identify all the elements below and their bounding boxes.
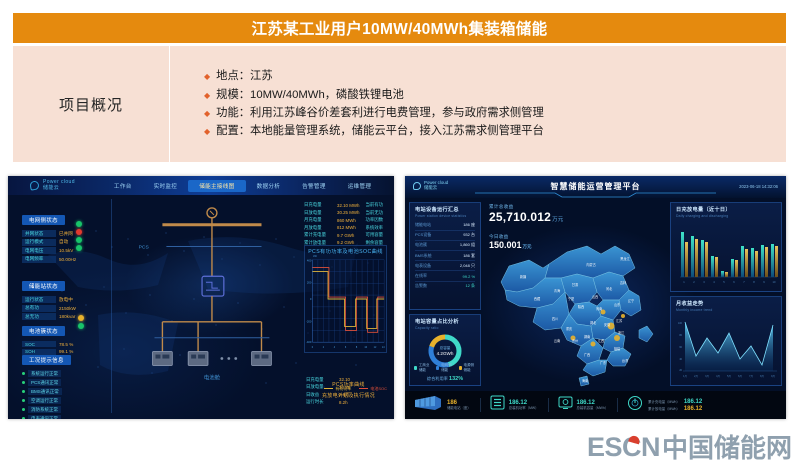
row-value: 1,860 组 <box>460 242 475 248</box>
list-item: 电表通讯正常 <box>22 415 71 419</box>
row-key: 运行模式 <box>22 239 56 246</box>
left-dashboard-navbar: Power cloud 储能云 工作台 实时监控 储能主接线图 数据分析 告警管… <box>8 176 394 195</box>
divider <box>617 398 618 412</box>
panel-title: 储能站状态 <box>22 281 65 291</box>
left-nav-tabs[interactable]: 工作台 实时监控 储能主接线图 数据分析 告警管理 运维管理 <box>103 180 382 192</box>
metric-key: 当前无功 <box>365 210 394 216</box>
table-row: 运行模式 自动 <box>22 239 76 246</box>
row-key: 总有功 <box>22 305 56 312</box>
power-soc-chart: PCS有功功率及电池SOC曲线 <box>304 245 387 353</box>
table-row: 运行状态 放电中 <box>22 296 76 303</box>
svg-text:2月: 2月 <box>694 374 698 378</box>
svg-text:贵州: 贵州 <box>572 338 578 343</box>
svg-text:9月: 9月 <box>771 374 775 378</box>
list-item: ◆ 功能：利用江苏峰谷价差套利进行电费管理，参与政府需求侧管理 <box>204 105 786 121</box>
svg-text:6: 6 <box>345 346 347 349</box>
metric-key: 月放电量 <box>304 225 334 231</box>
card-title: 电站设备运行汇总 <box>415 206 475 213</box>
svg-text:宁夏: 宁夏 <box>568 296 575 301</box>
svg-text:100: 100 <box>678 322 683 325</box>
table-row: 总无功 180kvar <box>22 313 76 320</box>
svg-text:云南: 云南 <box>554 338 560 343</box>
svg-text:河北: 河北 <box>606 286 613 291</box>
svg-text:吉林: 吉林 <box>620 280 627 285</box>
panel-rows: 运行状态 放电中 总有功 2150kW 总无功 180kvar <box>22 296 76 320</box>
row-key: 在线率 <box>415 273 427 279</box>
installed-capacity-stat: 186.12 总装机容量（MWh） <box>577 400 609 411</box>
table-row: 电网电压 10.5kV <box>22 247 76 254</box>
list-item: BMS通讯正常 <box>22 388 71 395</box>
tab-alarm-management[interactable]: 告警管理 <box>291 180 337 192</box>
dot-icon <box>22 381 25 384</box>
alarm-item-list: 系统运行正常 PCS通讯正常 BMS通讯正常 空调运行正常 消防系统正常 电表通… <box>22 370 71 419</box>
divider <box>548 398 549 412</box>
svg-text:电池舱: 电池舱 <box>204 373 221 381</box>
note-line: 充放电计划及执行情况 <box>322 392 375 399</box>
bottom-status-bar: 186 储能电站（座） 186.12 总装机功率（MW） <box>405 391 786 419</box>
project-overview-table: 项目概况 ◆ 地点：江苏 ◆ 规模：10MW/40MWh，磷酸铁锂电池 ◆ 功能… <box>13 46 786 162</box>
table-row: 月充电量860 MWh <box>304 217 359 223</box>
alarm-text: PCS通讯正常 <box>28 379 61 386</box>
left-metrics-column: 日充电量32.10 MWh 日放电量30.25 MWh 月充电量860 MWh … <box>302 199 389 413</box>
overview-label-cell: 项目概况 <box>13 46 170 162</box>
bar-chart-plot: 123 456 789 10 <box>675 219 779 289</box>
led-red-icon <box>76 229 82 235</box>
svg-text:12: 12 <box>374 346 377 349</box>
svg-text:-200: -200 <box>306 319 312 323</box>
diamond-bullet-icon: ◆ <box>204 68 210 81</box>
svg-text:山西: 山西 <box>592 294 598 299</box>
table-row: 并网状态 已并网 <box>22 230 76 237</box>
led-green-icon <box>76 245 82 251</box>
legend-label: 工商业储能 <box>419 363 431 373</box>
svg-text:-400: -400 <box>306 340 312 344</box>
svg-text:总容量: 总容量 <box>440 345 451 350</box>
legend-label: 电网侧储能 <box>441 363 453 373</box>
svg-text:江苏: 江苏 <box>616 318 623 323</box>
metric-key: 系统效率 <box>365 225 394 231</box>
legend-item: 工商业储能 <box>414 363 431 373</box>
slide-title-bar: 江苏某工业用户10MW/40MWh集装箱储能 <box>13 13 786 43</box>
card-subtitle: Daily charging and discharging <box>676 214 776 218</box>
list-item: 空调运行正常 <box>22 397 71 404</box>
container-icon <box>413 394 443 416</box>
card-title: 日充放电量（近十日） <box>676 206 776 213</box>
svg-text:湖南: 湖南 <box>584 334 590 339</box>
metric-value: 860 MWh <box>337 218 356 223</box>
svg-text:10: 10 <box>364 346 367 349</box>
svg-text:黑龙江: 黑龙江 <box>620 256 630 261</box>
svg-text:海南: 海南 <box>582 378 588 383</box>
installed-power-stat: 186.12 总装机功率（MW） <box>509 400 539 411</box>
table-row: 当前无功180 kvar <box>365 210 394 216</box>
svg-text:四川: 四川 <box>552 317 558 321</box>
row-key: 储能电站 <box>415 222 431 228</box>
monitor-icon <box>558 395 573 415</box>
chart-plot: 400200 0-200-400 024 6810 1214 kW <box>305 246 386 352</box>
svg-text:广西: 广西 <box>584 352 590 357</box>
row-key: 累计充电量（MWh） <box>648 399 680 404</box>
legend-swatch <box>436 366 439 370</box>
list-item: ◆ 规模：10MW/40MWh，磷酸铁锂电池 <box>204 87 786 103</box>
diamond-bullet-icon: ◆ <box>204 105 210 118</box>
svg-text:4.2GWh: 4.2GWh <box>437 351 454 356</box>
metric-group: 当前有功2150 kW 当前无功180 kvar 功率因数0.99 系统效率92… <box>365 202 394 246</box>
svg-text:青海: 青海 <box>554 288 561 293</box>
table-row: 告警数12 条 <box>415 282 475 291</box>
table-row: 当前有功2150 kW <box>365 202 394 208</box>
svg-text:陕西: 陕西 <box>578 304 584 309</box>
right-dashboard-body: 电站设备运行汇总 Power station device statistics… <box>405 198 786 391</box>
diamond-bullet-icon: ◆ <box>204 123 210 136</box>
left-status-column: 电网侧状态 并网状态 已并网 运行模式 自动 电网电压 10.5kV <box>14 199 112 413</box>
svg-text:0: 0 <box>310 297 312 301</box>
svg-text:6月: 6月 <box>738 374 742 378</box>
legend-item: 电源侧储能 <box>459 363 476 373</box>
svg-text:台湾: 台湾 <box>622 358 629 363</box>
panel-rows: 并网状态 已并网 运行模式 自动 电网电压 10.5kV 电网频率 50.00H… <box>22 230 76 263</box>
card-header: 月收益走势 Monthly income trend <box>671 297 781 313</box>
svg-text:河南: 河南 <box>596 306 602 311</box>
row-value: 180kvar <box>59 314 75 319</box>
row-value: 932 台 <box>463 232 475 238</box>
table-row: 功率因数0.99 <box>365 217 394 223</box>
svg-text:4: 4 <box>713 280 715 284</box>
row-value: 50.00Hz <box>59 257 76 262</box>
svg-text:4: 4 <box>334 346 336 349</box>
watermark-en: ESCN <box>587 434 660 461</box>
right-dashboard-screenshot: Power cloud 储能云 智慧储能运营管理平台 2023-06-18 14… <box>405 176 786 419</box>
row-value: 186 套 <box>463 253 475 259</box>
led-green-icon <box>76 237 82 243</box>
row-key: 总无功 <box>22 313 56 320</box>
svg-text:200: 200 <box>307 280 312 284</box>
svg-text:7: 7 <box>743 280 745 284</box>
svg-text:10: 10 <box>773 280 776 284</box>
dot-icon <box>22 390 25 393</box>
row-key: SOC <box>22 341 56 347</box>
svg-text:1月: 1月 <box>683 374 687 378</box>
table-row: BMS系统186 套 <box>415 251 475 261</box>
panel-title: 电网侧状态 <box>22 215 65 225</box>
svg-text:6: 6 <box>733 280 735 284</box>
card-header: 电站容量占比分析 Capacity ratio <box>410 315 480 331</box>
metric-group: 日充电量32.10 MWh 日放电量30.25 MWh 月充电量860 MWh … <box>304 202 359 246</box>
metric-key: 可用容量 <box>365 232 394 238</box>
utilization-value: 132% <box>449 376 463 382</box>
device-summary-card: 电站设备运行汇总 Power station device statistics… <box>409 202 481 310</box>
list-item: ◆ 配置：本地能量管理系统，储能云平台，接入江苏需求侧管理平台 <box>204 123 786 139</box>
svg-text:60: 60 <box>679 346 682 349</box>
tab-single-line-diagram[interactable]: 储能主接线图 <box>188 180 245 192</box>
table-row: 电网频率 50.00Hz <box>22 256 76 263</box>
svg-text:8: 8 <box>753 280 755 284</box>
bullet-text: 地点：江苏 <box>216 68 273 84</box>
tab-ops-management[interactable]: 运维管理 <box>337 180 383 192</box>
svg-text:7月: 7月 <box>749 374 753 378</box>
row-key: 电表设备 <box>415 263 431 269</box>
table-row: 可用容量31.4 MWh <box>365 232 394 238</box>
table-row: 总有功 2150kW <box>22 305 76 312</box>
svg-text:8月: 8月 <box>760 374 764 378</box>
storage-status-leds <box>78 315 84 329</box>
row-value: 已并网 <box>59 231 73 237</box>
list-item: PCS通讯正常 <box>22 379 71 386</box>
row-key: 电池簇 <box>415 242 427 248</box>
svg-text:3月: 3月 <box>705 374 709 378</box>
overview-label: 项目概况 <box>59 94 123 115</box>
led-yellow-icon <box>78 315 84 321</box>
row-value: 186 座 <box>463 222 475 228</box>
legend-label: 电源侧储能 <box>464 363 476 373</box>
row-key: 运行状态 <box>22 296 56 303</box>
row-key: 电网电压 <box>22 247 56 254</box>
svg-text:西藏: 西藏 <box>534 296 541 301</box>
stat-label: 总装机功率（MW） <box>509 406 539 410</box>
slide-title: 江苏某工业用户10MW/40MWh集装箱储能 <box>252 17 548 39</box>
table-row: 在线率99.2 % <box>415 271 475 281</box>
page-title: 智慧储能运营管理平台 <box>405 181 786 192</box>
row-value: 186.12 <box>684 406 702 412</box>
card-subtitle: Capacity ratio <box>415 326 475 330</box>
card-header: 日充放电量（近十日） Daily charging and dischargin… <box>671 203 781 219</box>
legend-item: 电网侧储能 <box>436 363 453 373</box>
area-chart-plot: 1008060 4020 1月2月3月 4月5月6月 7月8月9月 <box>675 313 779 383</box>
row-value: 10.5kV <box>59 248 73 253</box>
row-value: 自动 <box>59 239 68 245</box>
alarm-text: 电表通讯正常 <box>28 415 61 419</box>
alarm-text: 消防系统正常 <box>28 406 61 413</box>
cloud-icon <box>29 180 39 190</box>
svg-text:5月: 5月 <box>727 374 731 378</box>
svg-text:40: 40 <box>679 358 682 361</box>
bullet-text: 配置：本地能量管理系统，储能云平台，接入江苏需求侧管理平台 <box>216 123 544 139</box>
table-row: 储能电站186 座 <box>415 221 475 231</box>
table-row: 累计充电量9.7 GWh <box>304 232 359 238</box>
row-value: 186.12 <box>684 399 702 405</box>
svg-text:2: 2 <box>323 346 325 349</box>
svg-text:湖北: 湖北 <box>590 320 597 325</box>
metric-key: 月充电量 <box>304 217 334 223</box>
svg-text:新疆: 新疆 <box>520 274 527 279</box>
row-key: 电网频率 <box>22 256 56 263</box>
card-subtitle: Monthly income trend <box>676 308 776 312</box>
logo-sub: 储能云 <box>43 186 75 192</box>
tab-realtime-monitor[interactable]: 实时监控 <box>143 180 189 192</box>
svg-text:kW: kW <box>313 255 317 258</box>
led-green-icon <box>78 323 84 329</box>
svg-text:甘肃: 甘肃 <box>572 282 579 287</box>
stat-label: 总装机容量（MWh） <box>577 406 609 410</box>
svg-text:山东: 山东 <box>614 302 620 307</box>
table-row: 系统效率92.6 % <box>365 225 394 231</box>
table-row: 电池簇1,860 组 <box>415 241 475 251</box>
svg-text:20: 20 <box>679 369 682 372</box>
row-value: 12 条 <box>465 283 475 289</box>
metric-value: 812 MWh <box>337 225 356 230</box>
metrics-grid: 日充电量32.10 MWh 日放电量30.25 MWh 月充电量860 MWh … <box>304 202 387 246</box>
clock-text: 2023-06-18 14:32:06 <box>739 184 778 189</box>
row-value: 2150kW <box>59 306 76 311</box>
svg-text:福建: 福建 <box>614 346 621 351</box>
watermark-cn: 中国储能网 <box>662 435 792 461</box>
alarm-text: 空调运行正常 <box>28 397 61 404</box>
dot-icon <box>22 399 25 402</box>
table-row: 日放电量30.25 MWh <box>304 210 359 216</box>
table-row: PCS设备932 台 <box>415 231 475 241</box>
donut-legend: 工商业储能 电网侧储能 电源侧储能 <box>414 363 476 373</box>
left-dashboard-body: 电网侧状态 并网状态 已并网 运行模式 自动 电网电压 10.5kV <box>8 195 394 419</box>
device-kv-list: 储能电站186 座 PCS设备932 台 电池簇1,860 组 BMS系统186… <box>410 219 480 293</box>
metric-key: 当前有功 <box>365 202 394 208</box>
alarm-text: BMS通讯正常 <box>28 388 62 395</box>
left-dashboard-screenshot: Power cloud 储能云 工作台 实时监控 储能主接线图 数据分析 告警管… <box>8 176 394 419</box>
svg-text:内蒙古: 内蒙古 <box>586 262 596 267</box>
card-subtitle: Power station device statistics <box>415 214 475 218</box>
table-row: 累计放电量（MWh） 186.12 <box>648 406 702 412</box>
cumulative-stats: 累计充电量（MWh） 186.12 累计放电量（MWh） 186.12 <box>648 399 702 412</box>
overview-bullet-list: ◆ 地点：江苏 ◆ 规模：10MW/40MWh，磷酸铁锂电池 ◆ 功能：利用江苏… <box>170 46 786 162</box>
metric-value: 32.10 MWh <box>337 203 359 208</box>
stat-label: 储能电站（座） <box>447 406 471 410</box>
legend-swatch <box>414 366 417 370</box>
card-title: 月收益走势 <box>676 300 776 307</box>
station-count-stat: 186 储能电站（座） <box>447 400 471 411</box>
svg-text:0: 0 <box>312 346 314 349</box>
dot-icon <box>22 372 25 375</box>
china-map: 新疆西藏青海 甘肃内蒙古黑龙江 吉林辽宁河北 山西陕西宁夏 四川重庆云南 贵州广… <box>483 216 669 388</box>
monthly-income-area-card: 月收益走势 Monthly income trend 1008060 4020 <box>670 296 782 386</box>
row-key: 告警数 <box>415 283 427 289</box>
dot-icon <box>22 417 25 419</box>
svg-text:5: 5 <box>723 280 725 284</box>
note-line: PCS功率曲线 <box>322 381 375 388</box>
row-value: 2,048 只 <box>460 263 475 269</box>
metric-key: 累计充电量 <box>304 232 334 238</box>
row-key: BMS系统 <box>415 253 432 259</box>
tab-data-analysis[interactable]: 数据分析 <box>246 180 292 192</box>
capacity-ratio-card: 电站容量占比分析 Capacity ratio 总容量 4.2GWh 工商业储能… <box>409 314 481 386</box>
svg-text:9: 9 <box>763 280 765 284</box>
alarm-text: 系统运行正常 <box>28 370 61 377</box>
alarm-hint-panel: 工况提示信息 系统运行正常 PCS通讯正常 BMS通讯正常 空调运行正常 消防系… <box>22 349 71 419</box>
dot-icon <box>22 408 25 411</box>
right-dashboard-header: Power cloud 储能云 智慧储能运营管理平台 2023-06-18 14… <box>405 176 786 198</box>
svg-text:80: 80 <box>679 334 682 337</box>
list-item: ◆ 地点：江苏 <box>204 68 786 84</box>
svg-text:广东: 广东 <box>600 360 606 365</box>
svg-text:8: 8 <box>356 346 358 349</box>
table-row: 日充电量32.10 MWh <box>304 202 359 208</box>
utilization-row: 综合利用率 132% <box>410 376 480 382</box>
svg-text:重庆: 重庆 <box>566 326 573 331</box>
svg-text:江西: 江西 <box>598 338 604 343</box>
svg-text:辽宁: 辽宁 <box>628 298 634 303</box>
metric-value: 30.25 MWh <box>337 210 359 215</box>
table-row: 累计充电量（MWh） 186.12 <box>648 399 702 405</box>
svg-text:浙江: 浙江 <box>618 330 625 335</box>
panel-subtitle: 电池簇状态 <box>22 326 65 336</box>
escn-c-letter: C <box>622 434 641 461</box>
left-dashboard-logo: Power cloud 储能云 <box>8 180 75 191</box>
panel-title: 工况提示信息 <box>22 355 71 365</box>
divider <box>480 398 481 412</box>
single-line-diagram-column: 电池舱 PCS <box>114 199 300 413</box>
row-value: 78.5 % <box>59 342 73 347</box>
list-icon <box>490 395 505 415</box>
grid-status-panel: 电网侧状态 并网状态 已并网 运行模式 自动 电网电压 10.5kV <box>22 209 76 263</box>
grid-status-leds <box>76 221 82 251</box>
metric-key: 日充电量 <box>304 202 334 208</box>
led-green-icon <box>76 221 82 227</box>
card-header: 电站设备运行汇总 Power station device statistics <box>410 203 480 219</box>
table-row: 电表设备2,048 只 <box>415 261 475 271</box>
diamond-bullet-icon: ◆ <box>204 87 210 100</box>
svg-text:安徽: 安徽 <box>604 322 611 327</box>
svg-text:2: 2 <box>693 280 695 284</box>
svg-text:14: 14 <box>382 346 385 349</box>
svg-text:4月: 4月 <box>716 374 720 378</box>
table-row: 月放电量812 MWh <box>304 225 359 231</box>
legend-swatch <box>459 366 462 370</box>
bottom-notes: PCS功率曲线 充放电计划及执行情况 <box>322 381 375 403</box>
metric-value: 9.7 GWh <box>337 233 354 238</box>
card-title: 电站容量占比分析 <box>415 318 475 325</box>
svg-text:3: 3 <box>703 280 705 284</box>
svg-text:PCS: PCS <box>139 245 150 251</box>
metric-key: 日放电量 <box>304 210 334 216</box>
row-value: 放电中 <box>59 297 73 303</box>
utilization-label: 综合利用率 <box>427 376 448 381</box>
table-row: SOC 78.5 % <box>22 341 76 347</box>
row-key: 累计放电量（MWh） <box>648 406 680 411</box>
list-item: 消防系统正常 <box>22 406 71 413</box>
svg-text:400: 400 <box>307 259 312 263</box>
metric-key: 功率因数 <box>365 217 394 223</box>
svg-text:1: 1 <box>683 280 685 284</box>
list-item: 系统运行正常 <box>22 370 71 377</box>
row-key: 并网状态 <box>22 230 56 237</box>
row-value: 99.2 % <box>463 274 475 279</box>
gauge-icon <box>627 395 643 416</box>
bullet-text: 功能：利用江苏峰谷价差套利进行电费管理，参与政府需求侧管理 <box>216 105 544 121</box>
daily-charge-bar-card: 日充放电量（近十日） Daily charging and dischargin… <box>670 202 782 292</box>
tab-workbench[interactable]: 工作台 <box>103 180 143 192</box>
single-line-diagram: 电池舱 PCS <box>114 199 300 413</box>
row-key: PCS设备 <box>415 232 431 238</box>
bullet-text: 规模：10MW/40MWh，磷酸铁锂电池 <box>216 87 404 103</box>
escn-watermark: ESCN 中国储能网 <box>587 434 792 461</box>
